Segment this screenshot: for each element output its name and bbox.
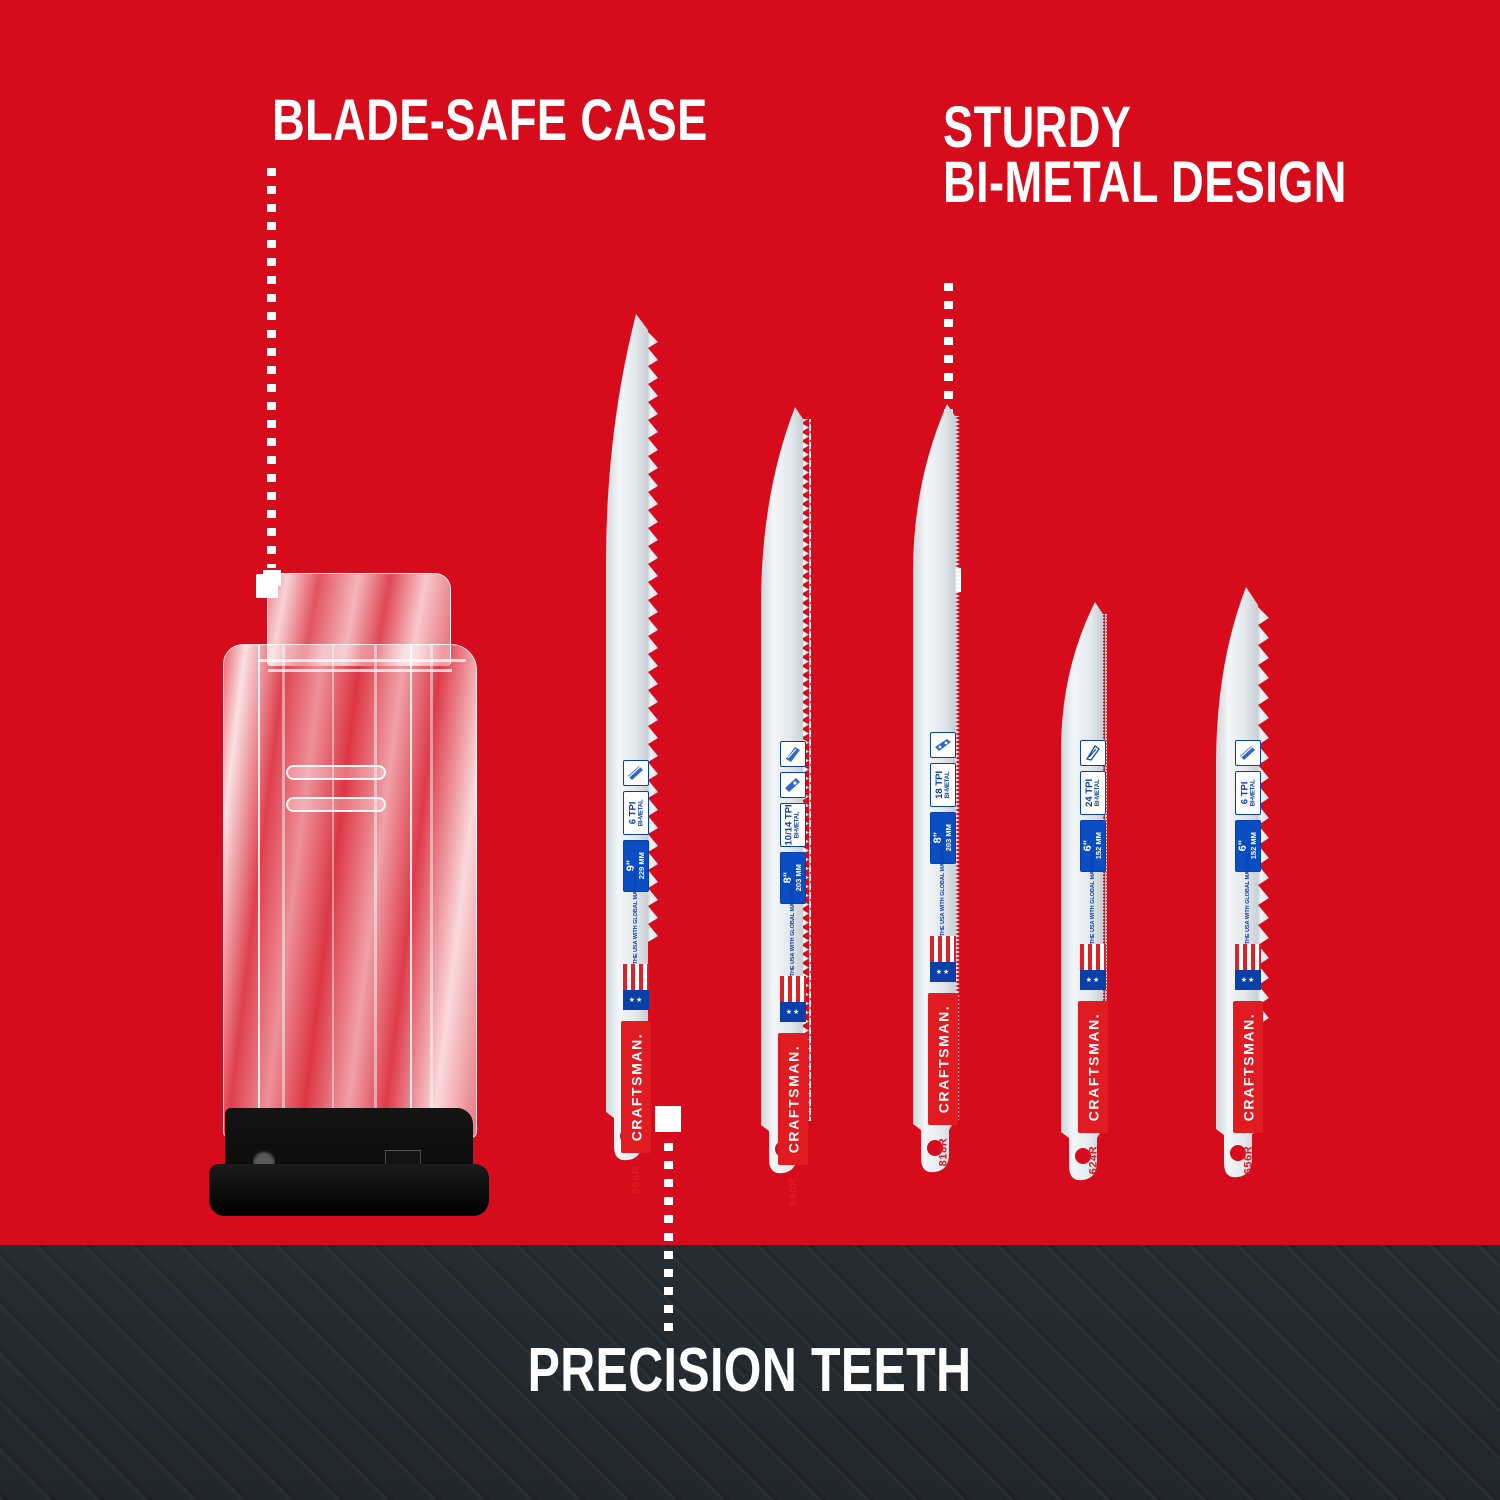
case-body bbox=[223, 644, 477, 1138]
blade-4-shape bbox=[1045, 600, 1141, 1218]
callout-sturdy-bi-metal-design: STURDY BI-METAL DESIGN bbox=[943, 100, 1347, 210]
callout-precision-teeth: PRECISION TEETH bbox=[0, 1340, 1500, 1402]
case-clip-lower bbox=[286, 797, 386, 812]
reciprocating-blade-656R: 6 TPI BI-METAL 6" 152 MM MADE IN THE USA… bbox=[1200, 585, 1296, 1215]
leader-line-case bbox=[267, 168, 276, 568]
blade-3-shape bbox=[895, 402, 991, 1212]
product-feature-graphic: BLADE-SAFE CASE STURDY BI-METAL DESIGN P… bbox=[0, 0, 1500, 1500]
callout-precision-teeth-text: PRECISION TEETH bbox=[528, 1340, 972, 1402]
blade-safe-case bbox=[195, 568, 485, 1213]
case-base-lower bbox=[209, 1164, 489, 1216]
case-clip-upper bbox=[286, 765, 386, 780]
reciprocating-blade-850R: 10/14 TPI BI-METAL 8" 203 MM MADE IN THE… bbox=[745, 405, 841, 1215]
blade-5-shape bbox=[1200, 585, 1296, 1215]
reciprocating-blade-624R: 24 TPI BI-METAL 6" 152 MM MADE IN THE US… bbox=[1045, 600, 1141, 1218]
reciprocating-blade-956R: 6 TPI BI-METAL 9" 229 MM MADE IN THE USA… bbox=[588, 312, 684, 1212]
case-lid-tab bbox=[256, 574, 278, 598]
reciprocating-blade-818R: 18 TPI BI-METAL 8" 203 MM MADE IN THE US… bbox=[895, 402, 991, 1212]
blade-1-shape bbox=[588, 312, 684, 1212]
callout-blade-safe-case: BLADE-SAFE CASE bbox=[272, 93, 708, 148]
blade-2-shape bbox=[745, 405, 841, 1215]
